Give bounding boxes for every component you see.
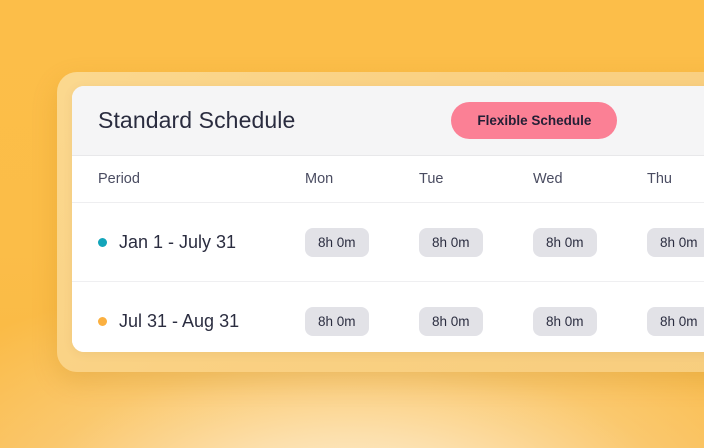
page-title: Standard Schedule <box>98 107 295 134</box>
period-label: Jul 31 - Aug 31 <box>119 311 239 332</box>
hours-chip: 8h 0m <box>533 307 597 336</box>
hours-cell-thu: 8h 0m <box>647 228 704 257</box>
hours-chip: 8h 0m <box>419 307 483 336</box>
column-header-mon: Mon <box>305 171 419 187</box>
hours-chip: 8h 0m <box>647 307 704 336</box>
card-header: Standard Schedule Flexible Schedule <box>72 86 704 156</box>
schedule-table: Period Mon Tue Wed Thu Jan 1 - July 31 8… <box>72 156 704 352</box>
hours-cell-mon: 8h 0m <box>305 228 419 257</box>
hours-chip: 8h 0m <box>647 228 704 257</box>
table-row[interactable]: Jan 1 - July 31 8h 0m 8h 0m 8h 0m 8h 0m <box>72 203 704 282</box>
hours-cell-thu: 8h 0m <box>647 307 704 336</box>
hours-chip: 8h 0m <box>305 307 369 336</box>
hours-cell-tue: 8h 0m <box>419 307 533 336</box>
hours-chip: 8h 0m <box>305 228 369 257</box>
schedule-card: Standard Schedule Flexible Schedule Peri… <box>72 86 704 352</box>
period-label: Jan 1 - July 31 <box>119 232 236 253</box>
hours-cell-wed: 8h 0m <box>533 228 647 257</box>
column-header-wed: Wed <box>533 171 647 187</box>
hours-chip: 8h 0m <box>533 228 597 257</box>
flexible-schedule-button[interactable]: Flexible Schedule <box>451 102 617 139</box>
hours-chip: 8h 0m <box>419 228 483 257</box>
period-cell: Jul 31 - Aug 31 <box>98 311 305 332</box>
hours-cell-tue: 8h 0m <box>419 228 533 257</box>
period-status-dot-icon <box>98 238 107 247</box>
column-header-period: Period <box>98 171 305 187</box>
table-header-row: Period Mon Tue Wed Thu <box>72 156 704 203</box>
period-cell: Jan 1 - July 31 <box>98 232 305 253</box>
period-status-dot-icon <box>98 317 107 326</box>
column-header-tue: Tue <box>419 171 533 187</box>
hours-cell-mon: 8h 0m <box>305 307 419 336</box>
table-row[interactable]: Jul 31 - Aug 31 8h 0m 8h 0m 8h 0m 8h 0m <box>72 282 704 352</box>
column-header-thu: Thu <box>647 171 704 187</box>
hours-cell-wed: 8h 0m <box>533 307 647 336</box>
